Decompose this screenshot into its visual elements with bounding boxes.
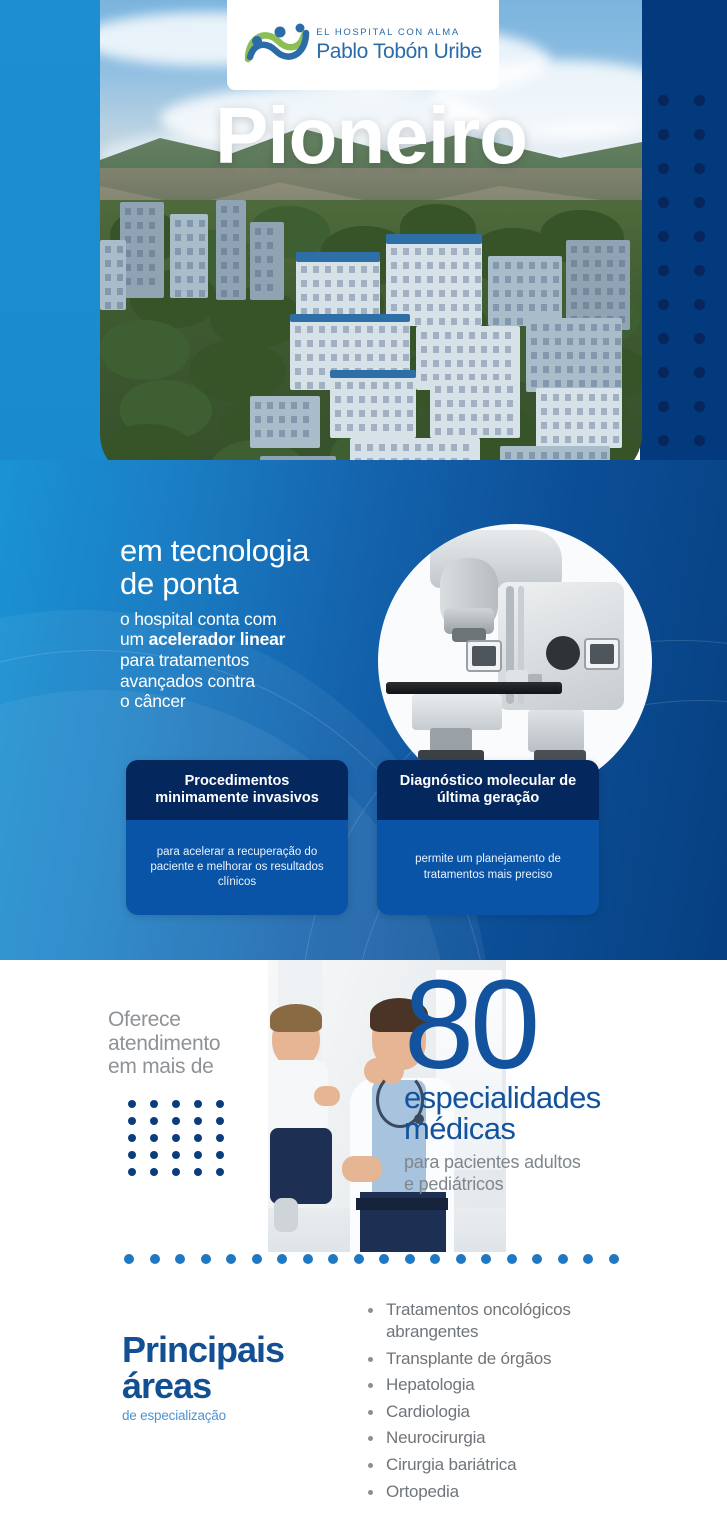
logo-tagline: EL HOSPITAL CON ALMA <box>316 28 482 38</box>
hospital-logo-card: EL HOSPITAL CON ALMA Pablo Tobón Uribe <box>227 0 499 90</box>
feature-cards: Procedimentos minimamente invasivos para… <box>0 760 727 920</box>
technology-body-line2a: um <box>120 629 149 649</box>
main-areas-title: Principais áreas <box>122 1332 362 1404</box>
feature-card-body: permite um planejamento de tratamentos m… <box>377 820 599 915</box>
main-areas-list: Tratamentos oncológicos abrangentesTrans… <box>364 1299 664 1507</box>
specialties-subtext-line2: e pediátricos <box>404 1174 503 1194</box>
main-areas-list-item: Ortopedia <box>364 1481 664 1503</box>
specialties-section: Oferece atendimento em mais de 80 especi… <box>0 960 727 1270</box>
main-areas-title-block: Principais áreas de especialização <box>122 1332 362 1423</box>
main-areas-list-item: Cardiologia <box>364 1401 664 1423</box>
lead-line1: Oferece <box>108 1008 181 1031</box>
technology-heading-line1: em tecnologia <box>120 533 309 568</box>
technology-body: o hospital conta com um acelerador linea… <box>120 609 420 712</box>
main-areas-list-item: Tratamentos oncológicos abrangentes <box>364 1299 664 1343</box>
dot-grid-pattern-icon <box>128 1100 246 1178</box>
specialties-subtext-line1: para pacientes adultos <box>404 1152 581 1172</box>
technology-body-line4: avançados contra <box>120 671 255 691</box>
child-shoe <box>274 1198 298 1232</box>
specialties-count: 80 <box>404 972 704 1078</box>
main-areas-title-line1: Principais <box>122 1329 284 1370</box>
main-areas-list-item: Transplante de órgãos <box>364 1348 664 1370</box>
lead-line3: em mais de <box>108 1055 214 1078</box>
two-human-figures-logo-icon <box>244 19 310 71</box>
technology-body-line5: o câncer <box>120 691 186 711</box>
main-areas-list-item: Cirurgia bariátrica <box>364 1454 664 1476</box>
main-areas-section: Principais áreas de especialização Trata… <box>0 1285 727 1536</box>
specialties-heading-line1: especialidades <box>404 1080 601 1115</box>
hero-left-blue-strip <box>0 0 110 500</box>
hero-section: Pioneiro EL HOSPITAL CON ALMA Pablo Tobó… <box>0 0 727 500</box>
hospital-buildings <box>100 200 642 410</box>
main-areas-list-item: Neurocirurgia <box>364 1427 664 1449</box>
lead-line2: atendimento <box>108 1032 220 1055</box>
specialties-heading: especialidades médicas <box>404 1082 704 1145</box>
dot-pattern-icon <box>640 0 727 500</box>
technology-body-line3: para tratamentos <box>120 650 249 670</box>
dot-row-pattern-icon <box>124 1254 614 1266</box>
specialties-heading-line2: médicas <box>404 1111 515 1146</box>
technology-text-block: em tecnologia de ponta o hospital conta … <box>120 535 420 712</box>
technology-body-highlight: acelerador linear <box>149 629 286 649</box>
logo-name: Pablo Tobón Uribe <box>316 41 482 62</box>
technology-body-line1: o hospital conta com <box>120 609 277 629</box>
feature-card-title: Procedimentos minimamente invasivos <box>126 760 348 820</box>
main-areas-title-line2: áreas <box>122 1365 211 1406</box>
main-areas-subtitle: de especialização <box>122 1408 362 1423</box>
page-title: Pioneiro <box>100 96 642 176</box>
technology-heading: em tecnologia de ponta <box>120 535 420 601</box>
feature-card: Diagnóstico molecular de última geração … <box>377 760 599 915</box>
technology-heading-line2: de ponta <box>120 566 238 601</box>
specialties-subtext: para pacientes adultos e pediátricos <box>404 1152 704 1195</box>
belt <box>356 1198 448 1210</box>
feature-card-body: para acelerar a recuperação do paciente … <box>126 820 348 915</box>
child-pants <box>270 1128 332 1204</box>
feature-card: Procedimentos minimamente invasivos para… <box>126 760 348 915</box>
infographic-page: Pioneiro EL HOSPITAL CON ALMA Pablo Tobó… <box>0 0 727 1536</box>
specialties-lead-text: Oferece atendimento em mais de <box>108 1008 258 1079</box>
specialties-figure-block: 80 especialidades médicas para pacientes… <box>404 972 704 1195</box>
feature-card-title: Diagnóstico molecular de última geração <box>377 760 599 820</box>
main-areas-list-item: Hepatologia <box>364 1374 664 1396</box>
logo-wordmark: EL HOSPITAL CON ALMA Pablo Tobón Uribe <box>316 28 482 62</box>
